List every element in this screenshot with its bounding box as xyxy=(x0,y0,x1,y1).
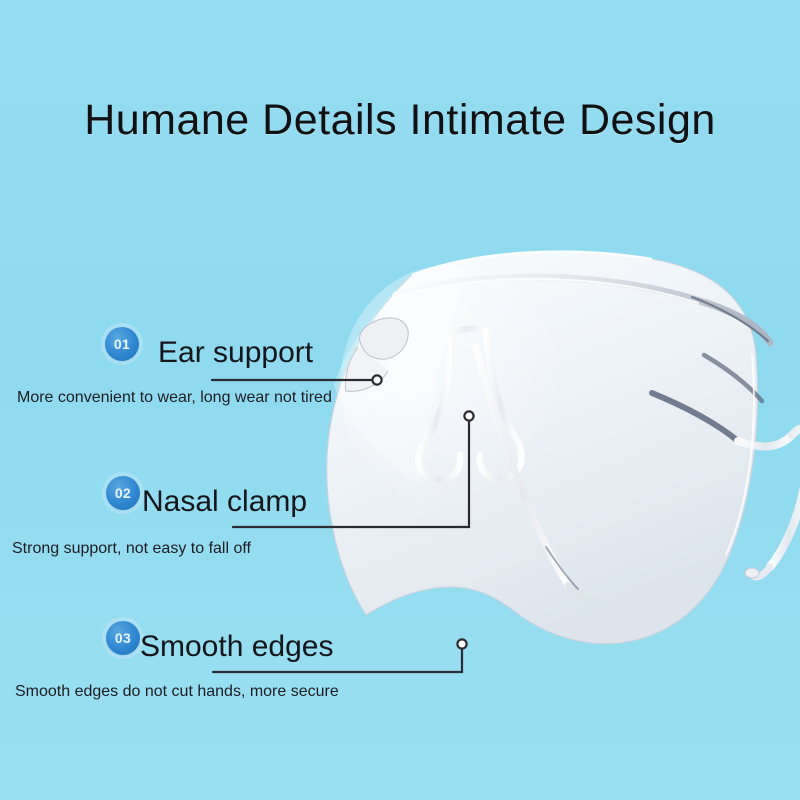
feature-heading-smooth-edges: Smooth edges xyxy=(140,630,333,664)
infographic-canvas: Humane Details Intimate Design xyxy=(0,0,800,800)
feature-description-3: Smooth edges do not cut hands, more secu… xyxy=(15,683,339,701)
feature-badge-01: 01 xyxy=(105,327,139,361)
feature-badge-03: 03 xyxy=(106,621,140,655)
feature-description-1: More convenient to wear, long wear not t… xyxy=(17,389,332,407)
feature-description-2: Strong support, not easy to fall off xyxy=(12,540,251,558)
page-title: Humane Details Intimate Design xyxy=(0,96,800,145)
product-image-face-shield xyxy=(300,235,800,675)
feature-heading-ear-support: Ear support xyxy=(158,336,313,370)
feature-heading-nasal-clamp: Nasal clamp xyxy=(142,485,307,519)
feature-badge-02: 02 xyxy=(106,476,140,510)
